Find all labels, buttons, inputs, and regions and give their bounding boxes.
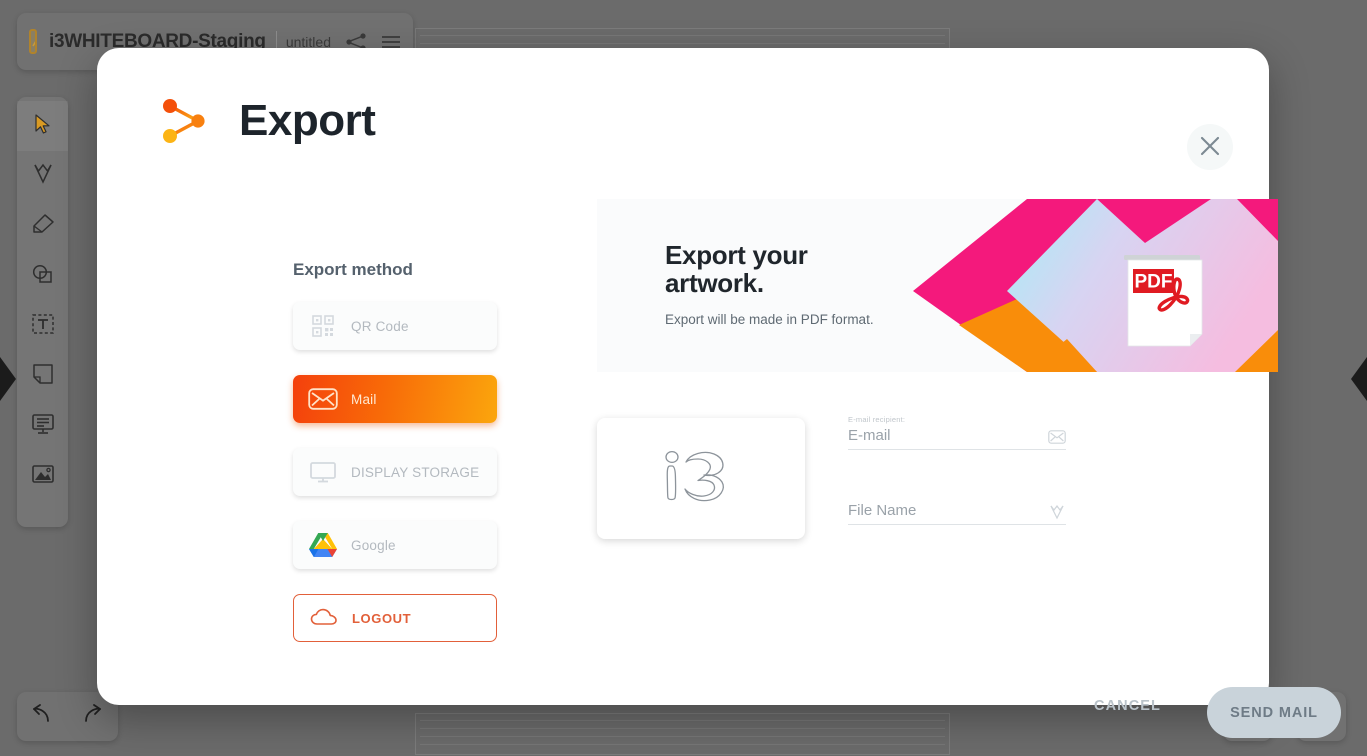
canvas-note-bottom: [415, 713, 950, 755]
export-method-display-storage[interactable]: DISPLAY STORAGE: [293, 448, 497, 496]
note-tool[interactable]: [17, 351, 68, 401]
shapes-tool[interactable]: [17, 251, 68, 301]
undo-arrow-icon: [30, 703, 54, 730]
email-field-group: E-mail recipient:: [848, 415, 1066, 450]
cursor-arrow-icon: [33, 113, 53, 140]
email-label: E-mail recipient:: [848, 415, 1066, 425]
export-dialog: Export Export method: [97, 48, 1269, 705]
banner-subtitle: Export will be made in PDF format.: [665, 311, 965, 329]
qr-code-icon: [307, 311, 339, 341]
filename-label: [848, 490, 1066, 500]
pdf-document-icon: PDF: [1118, 249, 1206, 352]
undo-button[interactable]: [17, 692, 67, 741]
undo-redo-bar: [17, 692, 118, 741]
logout-label: LOGOUT: [352, 611, 411, 626]
envelope-icon: [307, 384, 339, 414]
close-button[interactable]: [1187, 124, 1233, 170]
export-method-label: DISPLAY STORAGE: [351, 465, 479, 480]
shapes-icon: [31, 263, 55, 290]
export-banner: PDF Export your artwork. Export will be …: [597, 199, 1278, 372]
dialog-title: Export: [239, 96, 375, 146]
filename-input[interactable]: [848, 502, 1066, 525]
export-method-qr-code[interactable]: QR Code: [293, 302, 497, 350]
export-method-google[interactable]: Google: [293, 521, 497, 569]
select-tool[interactable]: [17, 101, 68, 151]
export-method-label: Mail: [351, 392, 377, 407]
whiteboard-logo-icon: [29, 29, 37, 54]
text-box-icon: [31, 312, 55, 341]
image-icon: [31, 464, 55, 489]
export-method-mail[interactable]: Mail: [293, 375, 497, 423]
banner-title: Export your artwork.: [665, 241, 965, 297]
presentation-icon: [31, 413, 55, 440]
send-mail-button[interactable]: SEND MAIL: [1207, 687, 1341, 738]
image-tool[interactable]: [17, 451, 68, 501]
redo-arrow-icon: [80, 703, 104, 730]
share-nodes-icon: [157, 94, 211, 148]
eraser-icon: [31, 213, 55, 240]
close-icon: [1199, 135, 1221, 160]
pen-tool[interactable]: [17, 151, 68, 201]
export-method-heading: Export method: [293, 260, 499, 280]
banner-title-line2: artwork.: [665, 269, 965, 297]
sticky-note-icon: [32, 363, 54, 390]
eraser-tool[interactable]: [17, 201, 68, 251]
svg-text:PDF: PDF: [1135, 272, 1173, 293]
export-form: E-mail recipient:: [848, 415, 1066, 565]
pen-icon: [1048, 504, 1066, 520]
cancel-button[interactable]: CANCEL: [1094, 698, 1161, 714]
panel-expand-left-icon[interactable]: [0, 357, 16, 401]
filename-field-group: [848, 490, 1066, 525]
tool-rail: [17, 97, 68, 527]
presentation-tool[interactable]: [17, 401, 68, 451]
pen-icon: [32, 162, 54, 191]
google-drive-icon: [307, 530, 339, 560]
logout-button[interactable]: LOGOUT: [293, 594, 497, 642]
envelope-icon: [1048, 429, 1066, 445]
banner-text-block: Export your artwork. Export will be made…: [665, 241, 965, 329]
cloud-icon: [308, 603, 340, 633]
export-method-panel: Export method: [293, 260, 499, 667]
banner-title-line1: Export your: [665, 241, 965, 269]
panel-expand-right-icon[interactable]: [1351, 357, 1367, 401]
text-tool[interactable]: [17, 301, 68, 351]
email-input[interactable]: [848, 427, 1066, 450]
export-method-label: Google: [351, 538, 396, 553]
export-method-label: QR Code: [351, 319, 409, 334]
artwork-thumbnail[interactable]: [597, 418, 805, 539]
whiteboard-app: i3WHITEBOARD-Staging untitled: [0, 0, 1367, 756]
dialog-header: Export: [157, 94, 375, 148]
monitor-icon: [307, 457, 339, 487]
